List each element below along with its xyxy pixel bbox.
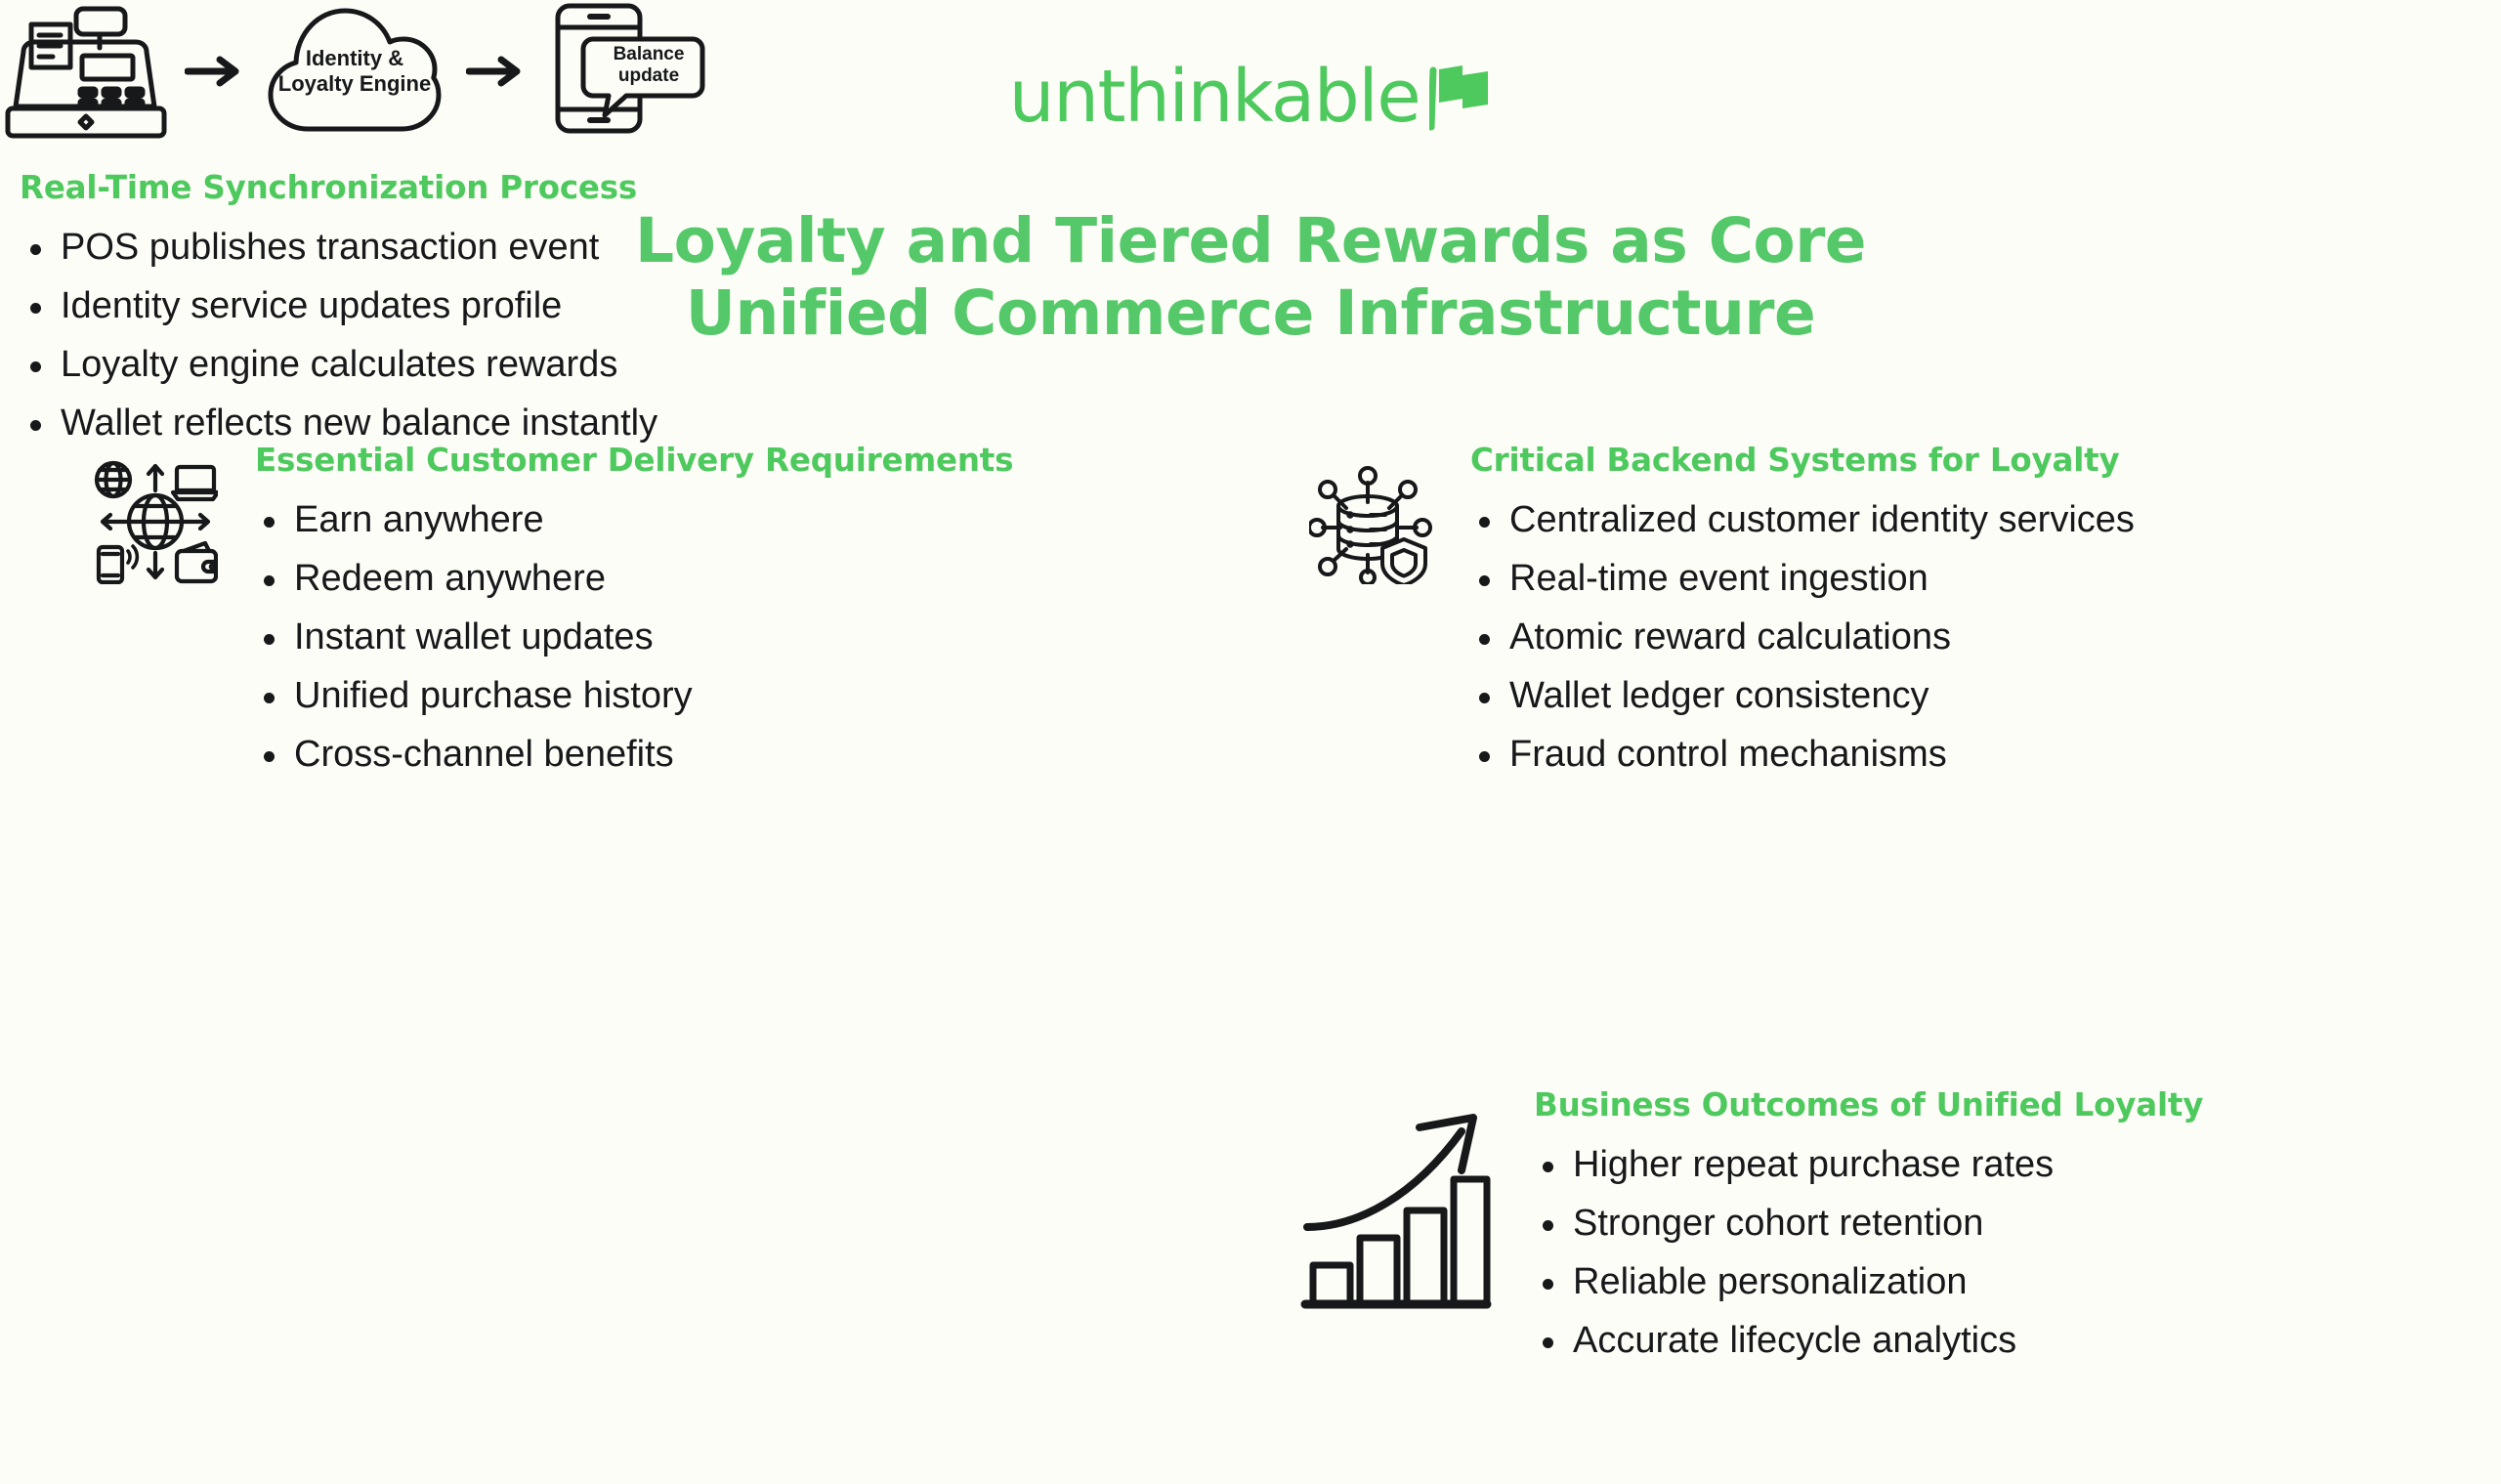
list-item: Earn anywhere (255, 501, 1246, 538)
flag-icon (1429, 63, 1492, 131)
section-body: Critical Backend Systems for Loyalty Cen… (1470, 442, 2462, 773)
omnichannel-globe-devices-icon (93, 459, 218, 589)
infographic-page: unthinkable Loyalty and Tiered Rewards a… (0, 0, 2501, 1484)
growth-bar-chart-arrow-icon (1299, 1106, 1495, 1331)
section-heading: Critical Backend Systems for Loyalty (1470, 442, 2462, 480)
phone-balance-update-icon: Balance update (538, 0, 709, 142)
brand-name: unthinkable (1009, 61, 1420, 133)
database-network-shield-icon (1309, 459, 1436, 589)
list-item: Identity service updates profile (21, 287, 996, 324)
list-item: Accurate lifecycle analytics (1534, 1322, 2472, 1359)
section-body: Essential Customer Delivery Requirements… (255, 442, 1246, 773)
section-essential-customer-delivery-requirements: Essential Customer Delivery Requirements… (93, 442, 1246, 773)
list-item: Instant wallet updates (255, 618, 1246, 656)
section-critical-backend-systems-for-loyalty: Critical Backend Systems for Loyalty Cen… (1309, 442, 2462, 773)
list-item: Real-time event ingestion (1470, 560, 2462, 597)
list-item: Centralized customer identity services (1470, 501, 2462, 538)
identity-loyalty-engine-cloud: Identity & Loyalty Engine (257, 0, 452, 142)
list-item: Wallet reflects new balance instantly (21, 404, 996, 442)
list-item: Higher repeat purchase rates (1534, 1146, 2472, 1183)
list-item: POS publishes transaction event (21, 229, 996, 266)
list-item: Atomic reward calculations (1470, 618, 2462, 656)
section-body: Business Outcomes of Unified Loyalty Hig… (1534, 1086, 2472, 1359)
list-item: Cross-channel benefits (255, 736, 1246, 773)
bullet-list: Higher repeat purchase rates Stronger co… (1534, 1146, 2472, 1359)
section-heading: Real-Time Synchronization Process (20, 169, 996, 207)
list-item: Redeem anywhere (255, 560, 1246, 597)
list-item: Unified purchase history (255, 677, 1246, 714)
list-item: Fraud control mechanisms (1470, 736, 2462, 773)
list-item: Loyalty engine calculates rewards (21, 346, 996, 383)
bullet-list: Centralized customer identity services R… (1470, 501, 2462, 773)
list-item: Stronger cohort retention (1534, 1205, 2472, 1242)
section-business-outcomes-of-unified-loyalty: Business Outcomes of Unified Loyalty Hig… (1299, 1086, 2472, 1359)
bullet-list: Earn anywhere Redeem anywhere Instant wa… (255, 501, 1246, 773)
list-item: Reliable personalization (1534, 1263, 2472, 1300)
section-heading: Business Outcomes of Unified Loyalty (1534, 1086, 2472, 1124)
list-item: Wallet ledger consistency (1470, 677, 2462, 714)
section-heading: Essential Customer Delivery Requirements (255, 442, 1246, 480)
